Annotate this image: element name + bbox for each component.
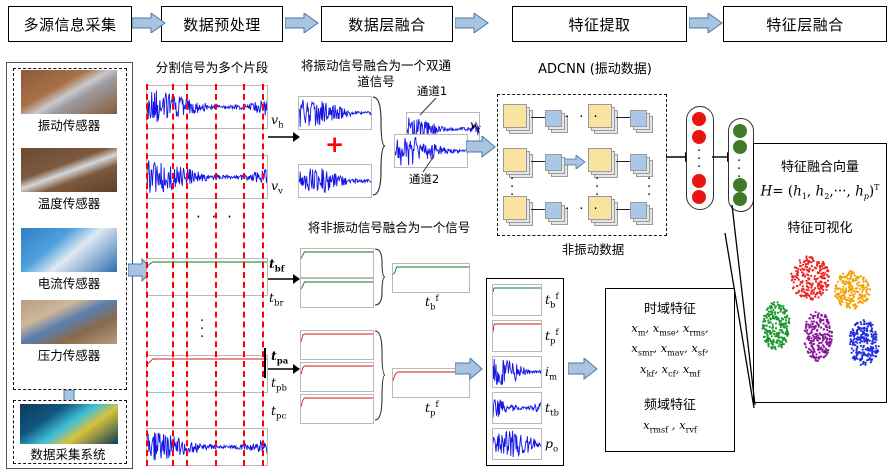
feature-extraction-box: 时域特征 xm, xmse, xrms,xsmr, xmav, xsf,xkf,…	[605, 288, 735, 452]
pipeline-stage-2[interactable]: 数据预处理	[161, 6, 283, 42]
adcnn-column-dots-1: ···	[510, 176, 514, 200]
green-neuron-4	[733, 192, 747, 206]
label-t-p-f: tpf	[425, 400, 439, 419]
adcnn-connector	[531, 161, 545, 162]
segmentation-signal-4	[146, 355, 268, 393]
time-domain-feature-rows: xm, xmse, xrms,xsmr, xmav, xsf,xkf, xcf,…	[606, 321, 734, 378]
fusion-vector-formula: H= (h1, h2,···, hp)T	[754, 183, 886, 201]
time-feature-row-1: xm, xmse, xrms,	[606, 321, 734, 337]
adcnn-connector	[616, 161, 630, 162]
pipeline-stage-label: 特征提取	[568, 14, 630, 35]
sensor-label-2: 温度传感器	[15, 193, 123, 212]
vibration-input-h-signal	[298, 96, 372, 130]
pipeline-stage-5[interactable]: 特征层融合	[723, 6, 887, 42]
segmentation-dash-line-6	[262, 84, 264, 466]
stacked-signal-label-1: tbf	[545, 292, 559, 311]
label-t-pc: tpc	[271, 403, 286, 422]
daq-label: 数据采集系统	[14, 444, 122, 463]
sensor-label-3: 电流传感器	[15, 273, 123, 292]
brake-fused-signal	[392, 263, 470, 293]
fusion-vector-box: 特征融合向量 H= (h1, h2,···, hp)T 特征可视化	[753, 143, 887, 403]
segmentation-signal-5	[146, 428, 268, 466]
brake-signal-1	[300, 248, 374, 278]
segmentation-dash-line-2	[172, 84, 174, 466]
stacked-signal-label-5: po	[545, 436, 558, 455]
brake-signal-2	[300, 278, 374, 308]
fusion-vector-leader-lines	[724, 205, 758, 411]
pressure-signal-3	[300, 394, 374, 424]
segmentation-vertical-dots: ···	[200, 318, 204, 342]
pipeline-stage-1[interactable]: 多源信息采集	[8, 6, 132, 42]
pressure-signal-2	[300, 362, 374, 392]
adcnn-connector	[531, 209, 545, 210]
channel2-label: 通道2	[396, 172, 452, 186]
adcnn-connector	[531, 117, 545, 118]
red-neuron-4	[692, 190, 706, 204]
pressure-brace	[374, 330, 386, 422]
freq-domain-feature-rows: xrmsf , xrvf	[606, 418, 734, 434]
vibration-plus-sign: +	[325, 132, 344, 158]
adcnn-connector	[616, 209, 630, 210]
label-v-h: vh	[271, 112, 284, 131]
nonvibration-fusion-title: 将非振动信号融合为一个信号	[286, 220, 492, 236]
label-t-pb: tpb	[271, 375, 287, 394]
pressure-sensor-photo	[21, 300, 117, 344]
adcnn-inner-arrow	[564, 155, 586, 169]
segmentation-signal-1	[146, 85, 268, 129]
pipeline-stage-label: 数据层融合	[348, 14, 426, 35]
adcnn-column-dots-2: ···	[595, 176, 599, 200]
segmentation-title: 分割信号为多个片段	[138, 60, 286, 76]
stacked-signal-2	[492, 320, 542, 352]
segmentation-dash-line-3	[186, 84, 188, 466]
red-neuron-3	[692, 174, 706, 188]
adcnn-row-dots: · · ·	[565, 202, 601, 217]
pipeline-stage-label: 数据预处理	[183, 14, 261, 35]
sensor-label-4: 压力传感器	[15, 345, 123, 364]
channel2-leader-line	[420, 156, 438, 174]
label-t-b-f: tbf	[425, 294, 439, 313]
stacked-signal-label-3: im	[545, 364, 557, 383]
pipeline-arrow-3	[455, 13, 489, 33]
adcnn-row-dots: · · ·	[565, 110, 601, 125]
adcnn-connector	[616, 117, 630, 118]
channel1-label: 通道1	[404, 84, 460, 98]
adcnn-title: ADCNN (振动数据)	[505, 62, 685, 78]
pressure-group-bracket	[264, 348, 266, 378]
pressure-signal-1	[300, 330, 374, 360]
stacked-signal-1	[492, 284, 542, 316]
stacked-signal-label-2: tpf	[545, 328, 559, 347]
stacked-signal-label-4: ttb	[545, 400, 559, 419]
current-sensor-photo	[21, 228, 117, 272]
stacked-signal-3	[492, 356, 542, 388]
pipeline-stage-label: 特征层融合	[766, 14, 844, 35]
pipeline-stage-label: 多源信息采集	[23, 14, 116, 35]
red-neuron-2	[692, 130, 706, 144]
label-v-v: vv	[271, 178, 283, 197]
fusion-vector-title: 特征融合向量	[754, 156, 886, 175]
vibration-fusion-brace	[372, 96, 386, 196]
feature-visualization-title: 特征可视化	[754, 217, 886, 236]
stacked-signal-5	[492, 428, 542, 460]
vibration-branch-arrow	[268, 130, 300, 144]
pipeline-stage-3[interactable]: 数据层融合	[321, 6, 453, 42]
feature-visualization-scatter	[754, 238, 882, 388]
neuron-dots: ···	[697, 148, 701, 172]
pipeline-stage-4[interactable]: 特征提取	[512, 6, 687, 42]
time-feature-row-3: xkf, xcf, xmf	[606, 362, 734, 378]
label-t-br: tbr	[269, 290, 284, 309]
time-domain-title: 时域特征	[606, 298, 734, 317]
segmentation-dash-line-4	[215, 84, 217, 466]
daq-system-photo	[20, 404, 118, 444]
neuron-dots: ···	[737, 158, 741, 182]
vibration-input-v-signal	[298, 164, 372, 198]
pressure-branch-arrow	[268, 362, 300, 376]
brake-branch-arrow	[268, 272, 300, 286]
stacked-to-features-arrow	[568, 358, 598, 380]
pipeline-arrow-4	[689, 13, 723, 33]
stacked-signal-4	[492, 392, 542, 424]
temperature-sensor-photo	[21, 148, 117, 192]
nonvibration-data-label: 非振动数据	[528, 242, 658, 258]
nonvib-to-stacked-arrow	[455, 358, 483, 380]
time-feature-row-2: xsmr, xmav, xsf,	[606, 341, 734, 357]
channel1-leader-line	[418, 98, 438, 116]
green-neuron-1	[733, 124, 747, 138]
red-neuron-1	[692, 112, 706, 126]
pipeline-arrow-2	[285, 13, 319, 33]
freq-domain-title: 频域特征	[606, 394, 734, 413]
freq-feature-row-1: xrmsf , xrvf	[606, 418, 734, 434]
segmentation-signal-2	[146, 155, 268, 199]
pipeline-arrow-1	[132, 13, 166, 33]
sensor-label-1: 振动传感器	[15, 115, 123, 134]
vibration-sensor-photo	[21, 70, 117, 114]
vibration-to-adcnn-arrow	[466, 136, 496, 158]
green-neuron-2	[733, 140, 747, 154]
segmentation-signal-3	[146, 258, 268, 296]
adcnn-column-dots-3: ···	[647, 176, 651, 200]
segmentation-dash-line-5	[243, 84, 245, 466]
brake-brace	[374, 248, 386, 306]
label-v-f: vf	[470, 117, 480, 136]
segmentation-horizontal-dots: · · ·	[196, 208, 235, 226]
segmentation-dash-line-1	[146, 84, 148, 466]
